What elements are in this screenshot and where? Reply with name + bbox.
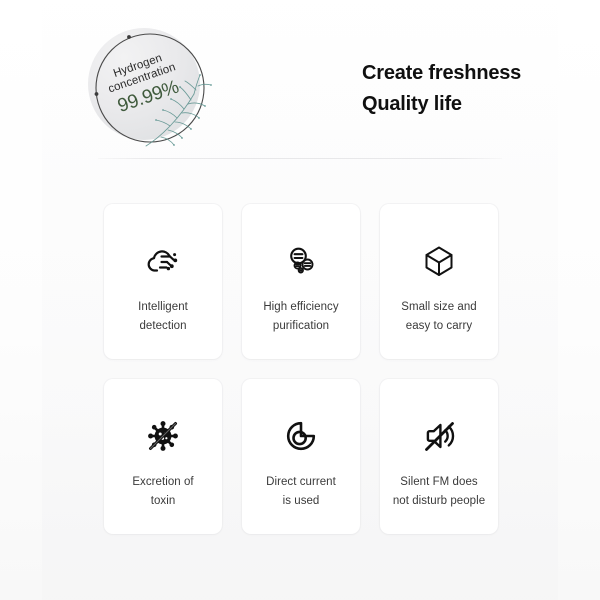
headline-line-1: Create freshness bbox=[362, 58, 582, 89]
hydrogen-concentration-badge: Hydrogen concentration 99.99% bbox=[88, 28, 208, 148]
feature-label: Direct current is used bbox=[245, 473, 357, 510]
virus-blocked-icon bbox=[140, 413, 186, 459]
feature-card-high-efficiency-purification[interactable]: High efficiency purification bbox=[242, 204, 360, 359]
speaker-muted-icon bbox=[416, 413, 462, 459]
feature-label: High efficiency purification bbox=[245, 298, 357, 335]
product-feature-page: Hydrogen concentration 99.99% bbox=[0, 0, 600, 600]
feature-card-excretion-of-toxin[interactable]: Excretion of toxin bbox=[104, 379, 222, 534]
feature-label: Intelligent detection bbox=[107, 298, 219, 335]
section-divider bbox=[98, 158, 502, 159]
hero-section: Hydrogen concentration 99.99% bbox=[0, 0, 600, 160]
feature-label: Small size and easy to carry bbox=[383, 298, 495, 335]
direct-current-power-icon bbox=[278, 413, 324, 459]
cube-box-icon bbox=[416, 238, 462, 284]
feature-grid: Intelligent detection High efficiency pu… bbox=[104, 204, 498, 534]
feature-label: Silent FM does not disturb people bbox=[383, 473, 495, 510]
purification-molecules-icon bbox=[278, 238, 324, 284]
feature-card-direct-current[interactable]: Direct current is used bbox=[242, 379, 360, 534]
feature-card-silent-fm[interactable]: Silent FM does not disturb people bbox=[380, 379, 498, 534]
feature-card-small-size[interactable]: Small size and easy to carry bbox=[380, 204, 498, 359]
headline-block: Create freshness Quality life bbox=[362, 58, 582, 120]
headline-line-2: Quality life bbox=[362, 89, 582, 120]
feature-card-intelligent-detection[interactable]: Intelligent detection bbox=[104, 204, 222, 359]
smart-cloud-detection-icon bbox=[140, 238, 186, 284]
feature-label: Excretion of toxin bbox=[107, 473, 219, 510]
